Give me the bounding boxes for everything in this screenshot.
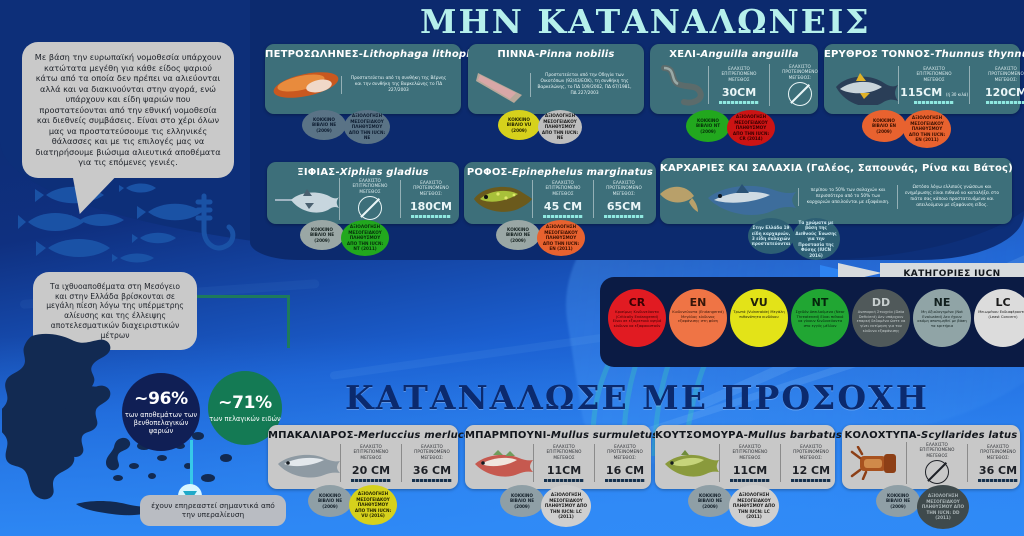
measure-rule-icon: [544, 479, 584, 482]
stat-benthic-caption: των αποθεμάτων των βενθοπελαγικών ψαριών: [122, 411, 200, 436]
measure-rule-icon: [986, 101, 1024, 104]
measure-rule-icon: [791, 479, 831, 482]
no-limit-icon: [925, 460, 949, 484]
badge-group-slipper-lobster: ΚΟΚΚΙΝΟ ΒΙΒΛΙΟ NE (2009) ΑΞΙΟΛΟΓΗΣΗ ΜΕΣΟ…: [876, 485, 969, 529]
stat-benthic-stocks: ~96% των αποθεμάτων των βενθοπελαγικών ψ…: [122, 373, 200, 451]
measure-min-legal: ΕΛΑΧΙΣΤΟ ΕΠΙΤΡΕΠΟΜΕΝΟ ΜΕΓΕΘΟΣ 11CM: [719, 444, 780, 482]
measure-rule-icon: [351, 479, 391, 482]
measure-group-surmullet: ΕΛΑΧΙΣΤΟ ΕΠΙΤΡΕΠΟΜΕΝΟ ΜΕΓΕΘΟΣ 11CM ΕΛΑΧΙ…: [533, 441, 655, 485]
badge-group-eel: ΚΟΚΚΙΝΟ ΒΙΒΛΙΟ NT (2009) ΑΞΙΟΛΟΓΗΣΗ ΜΕΣΟ…: [686, 110, 775, 146]
iucn-category-lc[interactable]: LC Μειωμένου Ενδιαφέροντος (Least Concer…: [974, 289, 1024, 347]
pinna-protection-note: Προστατεύεται από την Οδηγία των Οικοτόπ…: [530, 73, 638, 96]
status-badge[interactable]: ΑΞΙΟΛΟΓΗΣΗ ΜΕΣΟΓΕΙΑΚΟΥ ΠΛΗΘΥΣΜΟΥ ΑΠΟ ΤΗΝ…: [344, 110, 390, 144]
fish-school-icon: [18, 160, 258, 280]
species-card-title: ΚΟΥΤΣΟΜΟΥΡΑ-Mullus barbatus: [655, 425, 835, 441]
status-badge[interactable]: ΑΞΙΟΛΟΓΗΣΗ ΜΕΣΟΓΕΙΑΚΟΥ ΠΛΗΘΥΣΜΟΥ ΑΠΟ ΤΗΝ…: [729, 485, 779, 527]
status-badge[interactable]: Τα χρώματα με βάση της Διεθνούς Ένωσης γ…: [792, 218, 840, 260]
measure-min-suggested: ΕΛΑΧΙΣΤΟ ΠΡΟΤΕΙΝΟΜΕΝΟ ΜΕΓΕΘΟΣ: 16 CM: [594, 444, 655, 482]
status-badge[interactable]: ΚΟΚΚΙΝΟ ΒΙΒΛΙΟ NT (2009): [686, 110, 730, 142]
page-title-consume-with-care: ΚΑΤΑΝΑΛΩΣΕ ΜΕ ΠΡΟΣΟΧΗ: [345, 378, 929, 417]
status-badge[interactable]: ΚΟΚΚΙΝΟ ΒΙΒΛΙΟ NE (2009): [308, 485, 352, 517]
status-badge[interactable]: ΑΞΙΟΛΟΓΗΣΗ ΜΕΣΟΓΕΙΑΚΟΥ ΠΛΗΘΥΣΜΟΥ ΑΠΟ ΤΗΝ…: [341, 220, 389, 256]
measure-rule-icon: [411, 215, 451, 218]
shark-photo-icon: [702, 178, 798, 216]
status-badge[interactable]: ΑΞΙΟΛΟΓΗΣΗ ΜΕΣΟΓΕΙΑΚΟΥ ΠΛΗΘΥΣΜΟΥ ΑΠΟ ΤΗΝ…: [541, 485, 591, 527]
status-badge[interactable]: ΑΞΙΟΛΟΓΗΣΗ ΜΕΣΟΓΕΙΑΚΟΥ ΠΛΗΘΥΣΜΟΥ ΑΠΟ ΤΗΝ…: [917, 485, 969, 529]
species-card-lithophaga[interactable]: ΠΕΤΡΟΣΩΛΗΝΕΣ-Lithophaga lithophaga Προστ…: [265, 44, 461, 114]
infographic-root: ΜΗΝ ΚΑΤΑΝΑΛΩΝΕΙΣ ΚΑΤΑΝΑΛΩΣΕ ΜΕ ΠΡΟΣΟΧΗ Μ…: [0, 0, 1024, 536]
measure-group-eel: ΕΛΑΧΙΣΤΟ ΕΠΙΤΡΕΠΟΜΕΝΟ ΜΕΓΕΘΟΣ 30CM ΕΛΑΧΙ…: [708, 60, 830, 110]
page-title-do-not-consume: ΜΗΝ ΚΑΤΑΝΑΛΩΝΕΙΣ: [420, 2, 871, 41]
overfishing-caption-bubble: έχουν επηρεαστεί σημαντικά από την υπερα…: [140, 495, 286, 526]
measure-min-legal: ΕΛΑΧΙΣΤΟ ΕΠΙΤΡΕΠΟΜΕΝΟ ΜΕΓΕΘΟΣ: [339, 178, 400, 220]
status-badge[interactable]: ΚΟΚΚΙΝΟ ΒΙΒΛΙΟ EN (2009): [862, 110, 906, 142]
badge-group-hake: ΚΟΚΚΙΝΟ ΒΙΒΛΙΟ NE (2009) ΑΞΙΟΛΟΓΗΣΗ ΜΕΣΟ…: [308, 485, 397, 525]
iucn-category-vu[interactable]: VU Τρωτά (Vulnerable) Μεγάλη πιθανότητα …: [730, 289, 788, 347]
no-limit-icon: [358, 196, 382, 220]
sharks-note-1: περίπου το 50% των σαλαχιών και περισσότ…: [798, 188, 897, 205]
species-card-surmullet[interactable]: ΜΠΑΡΜΠΟΥΝΙ-Mullus surmuletus ΕΛΑΧΙΣΤΟ ΕΠ…: [465, 425, 651, 489]
species-card-sharks-rays[interactable]: ΚΑΡΧΑΡΙΕΣ ΚΑΙ ΣΑΛΑΧΙΑ (Γαλέος, Σαπουνάς,…: [660, 158, 1012, 224]
badge-group-sharks: Στην Ελλάδα 19 είδη καρχαριών, 3 είδη σα…: [748, 218, 840, 260]
no-limit-icon: [788, 82, 812, 106]
measure-value: 115CM (ή 30 κιλά): [900, 86, 968, 99]
measure-min-legal: ΕΛΑΧΙΣΤΟ ΕΠΙΤΡΕΠΟΜΕΝΟ ΜΕΓΕΘΟΣ 115CM (ή 3…: [898, 66, 969, 104]
status-badge[interactable]: ΚΟΚΚΙΝΟ ΒΙΒΛΙΟ NE (2009): [876, 485, 920, 517]
species-card-swordfish[interactable]: ΞΙΦΙΑΣ-Xiphias gladius ΕΛΑΧΙΣΤΟ ΕΠΙΤΡΕΠΟ…: [267, 162, 459, 224]
measure-rule-icon: [543, 215, 583, 218]
mussel-photo-icon: [271, 66, 341, 104]
iucn-category-ne[interactable]: NE Μη Αξιολογημένα (Not Evaluated) Δεν έ…: [913, 289, 971, 347]
species-card-grouper[interactable]: ΡΟΦΟΣ-Epinephelus marginatus ΕΛΑΧΙΣΤΟ ΕΠ…: [464, 162, 656, 224]
badge-group-swordfish: ΚΟΚΚΙΝΟ ΒΙΒΛΙΟ NE (2009) ΑΞΙΟΛΟΓΗΣΗ ΜΕΣΟ…: [300, 220, 389, 256]
badge-group-tuna: ΚΟΚΚΙΝΟ ΒΙΒΛΙΟ EN (2009) ΑΞΙΟΛΟΓΗΣΗ ΜΕΣΟ…: [862, 110, 951, 148]
measure-min-legal: ΕΛΑΧΙΣΤΟ ΕΠΙΤΡΕΠΟΜΕΝΟ ΜΕΓΕΘΟΣ 11CM: [533, 444, 594, 482]
measure-rule-icon: [604, 215, 644, 218]
measure-group-red-mullet: ΕΛΑΧΙΣΤΟ ΕΠΙΤΡΕΠΟΜΕΝΟ ΜΕΓΕΘΟΣ 11CM ΕΛΑΧΙ…: [719, 441, 841, 485]
measure-rule-icon: [719, 101, 759, 104]
species-card-title: ΡΟΦΟΣ-Epinephelus marginatus: [464, 162, 656, 178]
species-card-slipper-lobster[interactable]: ΚΟΛΟΧΤΥΠΑ-Scyllarides latus ΕΛΑΧΙΣΤΟ ΕΠΙ…: [842, 425, 1020, 489]
measure-group-tuna: ΕΛΑΧΙΣΤΟ ΕΠΙΤΡΕΠΟΜΕΝΟ ΜΕΓΕΘΟΣ 115CM (ή 3…: [898, 60, 1024, 110]
species-card-hake[interactable]: ΜΠΑΚΑΛΙΑΡΟΣ-Merluccius merluccius ΕΛΑΧΙΣ…: [268, 425, 458, 489]
badge-group-red-mullet: ΚΟΚΚΙΝΟ ΒΙΒΛΙΟ NE (2009) ΑΞΙΟΛΟΓΗΣΗ ΜΕΣΟ…: [688, 485, 779, 527]
status-badge[interactable]: ΚΟΚΚΙΝΟ ΒΙΒΛΙΟ NE (2009): [300, 220, 344, 250]
species-card-bluefin-tuna[interactable]: ΕΡΥΘΡΟΣ ΤΟΝΝΟΣ-Thunnus thynnus ΕΛΑΧΙΣΤΟ …: [824, 44, 1020, 114]
measure-min-suggested: ΕΛΑΧΙΣΤΟ ΠΡΟΤΕΙΝΟΜΕΝΟ ΜΕΓΕΘΟΣ: 36 CM: [967, 444, 1024, 482]
measure-group-grouper: ΕΛΑΧΙΣΤΟ ΕΠΙΤΡΕΠΟΜΕΝΟ ΜΕΓΕΘΟΣ 45 CM ΕΛΑΧ…: [532, 178, 654, 220]
species-card-title: ΞΙΦΙΑΣ-Xiphias gladius: [267, 162, 459, 178]
status-badge[interactable]: ΚΟΚΚΙΝΟ ΒΙΒΛΙΟ VU (2009): [498, 110, 540, 140]
ray-photo-icon: [656, 180, 702, 214]
eel-photo-icon: [656, 64, 708, 106]
measure-min-suggested: ΕΛΑΧΙΣΤΟ ΠΡΟΤΕΙΝΟΜΕΝΟ ΜΕΓΕΘΟΣ: 180CM: [400, 180, 461, 218]
badge-group-pinna: ΚΟΚΚΙΝΟ ΒΙΒΛΙΟ VU (2009) ΑΞΙΟΛΟΓΗΣΗ ΜΕΣΟ…: [498, 110, 582, 144]
measure-min-suggested: ΕΛΑΧΙΣΤΟ ΠΡΟΤΕΙΝΟΜΕΝΟ ΜΕΓΕΘΟΣ: 65CM: [593, 180, 654, 218]
stat-benthic-percent: ~96%: [134, 389, 188, 409]
badge-group-lithophaga: ΚΟΚΚΙΝΟ ΒΙΒΛΙΟ NE (2009) ΑΞΙΟΛΟΓΗΣΗ ΜΕΣΟ…: [302, 110, 390, 144]
tuna-photo-icon: [830, 65, 898, 105]
eu-legislation-bubble: Με βάση την ευρωπαϊκή νομοθεσία υπάρχουν…: [22, 42, 234, 178]
iucn-category-row: CR Κρισίμως Κινδυνεύοντα (Critically End…: [608, 289, 1024, 347]
surmullet-photo-icon: [471, 448, 533, 478]
measure-min-legal: ΕΛΑΧΙΣΤΟ ΕΠΙΤΡΕΠΟΜΕΝΟ ΜΕΓΕΘΟΣ 30CM: [708, 66, 769, 104]
stat-connector-line: [190, 440, 193, 490]
status-badge[interactable]: ΚΟΚΚΙΝΟ ΒΙΒΛΙΟ NE (2009): [500, 485, 544, 517]
sharks-note-2: Ωστόσο λόγω ελλιπούς γνώσεων και ενημέρω…: [897, 185, 1006, 208]
species-card-title: ΜΠΑΡΜΠΟΥΝΙ-Mullus surmuletus: [465, 425, 651, 441]
species-card-title: ΧΕΛΙ-Anguilla anguilla: [650, 44, 818, 60]
hake-photo-icon: [274, 448, 340, 478]
measure-min-suggested: ΕΛΑΧΙΣΤΟ ΠΡΟΤΕΙΝΟΜΕΝΟ ΜΕΓΕΘΟΣ: 36 CM: [401, 444, 462, 482]
pinna-photo-icon: [474, 65, 530, 105]
status-badge[interactable]: ΑΞΙΟΛΟΓΗΣΗ ΜΕΣΟΓΕΙΑΚΟΥ ΠΛΗΘΥΣΜΟΥ ΑΠΟ ΤΗΝ…: [538, 110, 582, 144]
status-badge[interactable]: ΑΞΙΟΛΟΓΗΣΗ ΜΕΣΟΓΕΙΑΚΟΥ ΠΛΗΘΥΣΜΟΥ ΑΠΟ ΤΗΝ…: [903, 110, 951, 148]
measure-min-legal: ΕΛΑΧΙΣΤΟ ΕΠΙΤΡΕΠΟΜΕΝΟ ΜΕΓΕΘΟΣ 20 CM: [340, 444, 401, 482]
redmullet-photo-icon: [661, 448, 719, 478]
measure-rule-icon: [412, 479, 452, 482]
measure-rule-icon: [730, 479, 770, 482]
slipperlobster-photo-icon: [848, 446, 906, 480]
status-badge[interactable]: ΚΟΚΚΙΝΟ ΒΙΒΛΙΟ NE (2009): [496, 220, 540, 250]
stat-pelagic-caption: των πελαγικών ειδών: [209, 415, 280, 423]
status-badge[interactable]: ΑΞΙΟΛΟΓΗΣΗ ΜΕΣΟΓΕΙΑΚΟΥ ΠΛΗΘΥΣΜΟΥ ΑΠΟ ΤΗΝ…: [349, 485, 397, 525]
measure-min-legal: ΕΛΑΧΙΣΤΟ ΕΠΙΤΡΕΠΟΜΕΝΟ ΜΕΓΕΘΟΣ 45 CM: [532, 180, 593, 218]
badge-group-surmullet: ΚΟΚΚΙΝΟ ΒΙΒΛΙΟ NE (2009) ΑΞΙΟΛΟΓΗΣΗ ΜΕΣΟ…: [500, 485, 591, 527]
iucn-category-en[interactable]: EN Κινδυνεύοντα (Endangered) Μεγάλος κίν…: [669, 289, 727, 347]
measure-min-suggested: ΕΛΑΧΙΣΤΟ ΠΡΟΤΕΙΝΟΜΕΝΟ ΜΕΓΕΘΟΣ: 120CM: [969, 66, 1024, 104]
species-card-title: ΚΟΛΟΧΤΥΠΑ-Scyllarides latus: [842, 425, 1020, 441]
iucn-category-dd[interactable]: DD Ανεπαρκή Στοιχεία (Data Deficient) Δε…: [852, 289, 910, 347]
lithophaga-protection-note: Προστατεύεται από τη συνθήκη της Βέρνης …: [341, 76, 455, 93]
status-badge[interactable]: ΑΞΙΟΛΟΓΗΣΗ ΜΕΣΟΓΕΙΑΚΟΥ ΠΛΗΘΥΣΜΟΥ ΑΠΟ ΤΗΝ…: [537, 220, 585, 256]
species-card-title: ΜΠΑΚΑΛΙΑΡΟΣ-Merluccius merluccius: [268, 425, 458, 441]
measure-rule-icon: [914, 101, 954, 104]
measure-rule-icon: [978, 479, 1018, 482]
measure-rule-icon: [605, 479, 645, 482]
species-card-pinna[interactable]: ΠΙΝΝΑ-Pinna nobilis Προστατεύεται από τη…: [468, 44, 644, 114]
species-card-title: ΕΡΥΘΡΟΣ ΤΟΝΝΟΣ-Thunnus thynnus: [824, 44, 1020, 60]
species-card-eel[interactable]: ΧΕΛΙ-Anguilla anguilla ΕΛΑΧΙΣΤΟ ΕΠΙΤΡΕΠΟ…: [650, 44, 818, 114]
measure-min-legal: ΕΛΑΧΙΣΤΟ ΕΠΙΤΡΕΠΟΜΕΝΟ ΜΕΓΕΘΟΣ: [906, 442, 967, 484]
status-badge[interactable]: ΚΟΚΚΙΝΟ ΒΙΒΛΙΟ NE (2009): [302, 110, 346, 140]
iucn-legend-panel: CR Κρισίμως Κινδυνεύοντα (Critically End…: [600, 277, 1024, 367]
iucn-category-cr[interactable]: CR Κρισίμως Κινδυνεύοντα (Critically End…: [608, 289, 666, 347]
species-card-red-mullet[interactable]: ΚΟΥΤΣΟΜΟΥΡΑ-Mullus barbatus ΕΛΑΧΙΣΤΟ ΕΠΙ…: [655, 425, 835, 489]
species-card-title: ΚΑΡΧΑΡΙΕΣ ΚΑΙ ΣΑΛΑΧΙΑ (Γαλέος, Σαπουνάς,…: [660, 158, 1012, 174]
eu-legislation-text: Με βάση την ευρωπαϊκή νομοθεσία υπάρχουν…: [35, 52, 221, 167]
measure-group-slipper-lobster: ΕΛΑΧΙΣΤΟ ΕΠΙΤΡΕΠΟΜΕΝΟ ΜΕΓΕΘΟΣ ΕΛΑΧΙΣΤΟ Π…: [906, 441, 1024, 485]
measure-min-suggested: ΕΛΑΧΙΣΤΟ ΠΡΟΤΕΙΝΟΜΕΝΟ ΜΕΓΕΘΟΣ:: [769, 64, 830, 106]
status-badge[interactable]: ΑΞΙΟΛΟΓΗΣΗ ΜΕΣΟΓΕΙΑΚΟΥ ΠΛΗΘΥΣΜΟΥ ΑΠΟ ΤΗΝ…: [727, 110, 775, 146]
iucn-category-nt[interactable]: NT Σχεδόν Απειλούμενα (Near Threatened) …: [791, 289, 849, 347]
bubble-tail: [64, 174, 119, 214]
status-badge[interactable]: Στην Ελλάδα 19 είδη καρχαριών, 3 είδη σα…: [748, 218, 794, 254]
overfishing-caption-text: έχουν επηρεαστεί σημαντικά από την υπερα…: [151, 501, 275, 519]
grouper-photo-icon: [470, 181, 532, 217]
measure-group-hake: ΕΛΑΧΙΣΤΟ ΕΠΙΤΡΕΠΟΜΕΝΟ ΜΕΓΕΘΟΣ 20 CM ΕΛΑΧ…: [340, 441, 462, 485]
status-badge[interactable]: ΚΟΚΚΙΝΟ ΒΙΒΛΙΟ NE (2009): [688, 485, 732, 517]
measure-min-suggested: ΕΛΑΧΙΣΤΟ ΠΡΟΤΕΙΝΟΜΕΝΟ ΜΕΓΕΘΟΣ: 12 CM: [780, 444, 841, 482]
measure-group-swordfish: ΕΛΑΧΙΣΤΟ ΕΠΙΤΡΕΠΟΜΕΝΟ ΜΕΓΕΘΟΣ ΕΛΑΧΙΣΤΟ Π…: [339, 178, 461, 220]
swordfish-photo-icon: [273, 183, 339, 215]
badge-group-grouper: ΚΟΚΚΙΝΟ ΒΙΒΛΙΟ NE (2009) ΑΞΙΟΛΟΓΗΣΗ ΜΕΣΟ…: [496, 220, 585, 256]
species-card-title: ΠΙΝΝΑ-Pinna nobilis: [468, 44, 644, 60]
stat-pelagic-percent: ~71%: [218, 393, 272, 413]
species-card-title: ΠΕΤΡΟΣΩΛΗΝΕΣ-Lithophaga lithophaga: [265, 44, 461, 60]
